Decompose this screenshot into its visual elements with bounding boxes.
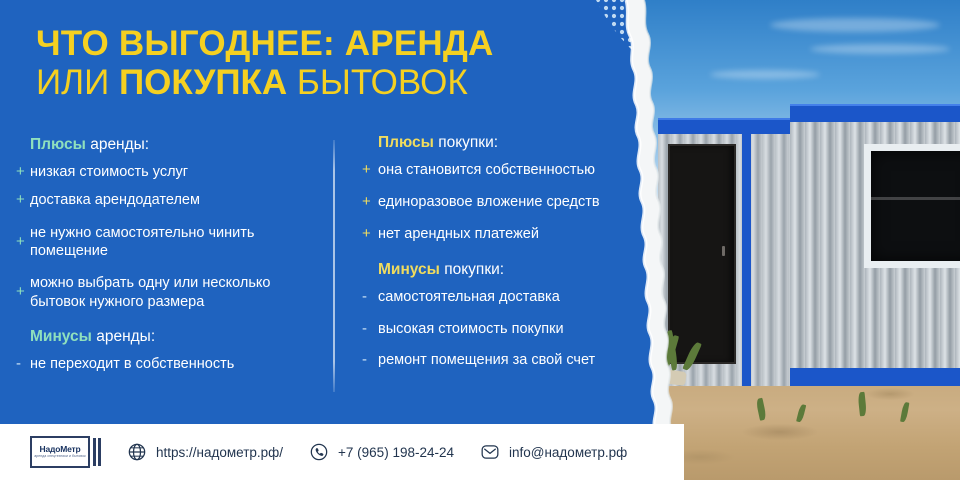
minus-marker-icon: - <box>362 351 378 370</box>
minus-marker-icon: - <box>16 355 30 374</box>
rent-cons-heading: Минусы аренды: <box>16 328 326 346</box>
weed <box>682 341 702 372</box>
plus-marker-icon: + <box>362 161 378 180</box>
list-item: + низкая стоимость услуг <box>16 163 326 182</box>
purchase-pros-heading-rest: покупки: <box>434 134 498 151</box>
cloud-wisp <box>770 18 940 32</box>
list-item-text: ремонт помещения за свой счет <box>378 351 692 369</box>
brand-logo[interactable]: НадоМетр аренда спецтехники и бытовок <box>30 436 101 468</box>
plus-marker-icon: + <box>16 191 30 210</box>
email-text: info@надометр.рф <box>509 445 627 460</box>
cabin-window <box>864 144 960 268</box>
list-item-text: не переходит в собственность <box>30 355 326 373</box>
logo-box: НадоМетр аренда спецтехники и бытовок <box>30 436 90 468</box>
website-contact[interactable]: https://надометр.рф/ <box>127 442 283 462</box>
plus-marker-icon: + <box>16 283 30 302</box>
title-word-ili: ИЛИ <box>36 63 119 102</box>
rent-cons-heading-strong: Минусы <box>30 328 92 345</box>
phone-text: +7 (965) 198-24-24 <box>338 445 454 460</box>
purchase-pros-heading-strong: Плюсы <box>378 134 434 151</box>
cabin-door <box>668 144 736 364</box>
plus-marker-icon: + <box>362 225 378 244</box>
window-glass-reflection <box>871 197 960 200</box>
rent-column: Плюсы аренды: + низкая стоимость услуг +… <box>16 136 326 383</box>
plus-marker-icon: + <box>16 233 30 252</box>
list-item: - не переходит в собственность <box>16 355 326 374</box>
purchase-cons-heading: Минусы покупки: <box>362 261 692 279</box>
cabin-corner-trim <box>742 134 751 386</box>
list-item-text: нет арендных платежей <box>378 225 692 243</box>
cabin-base-trim <box>790 368 960 386</box>
logo-bars <box>93 438 101 466</box>
list-item-text: не нужно самостоятельно чинить помещение <box>30 224 326 261</box>
list-item: + доставка арендодателем <box>16 191 326 210</box>
list-item-text: самостоятельная доставка <box>378 288 692 306</box>
list-item-text: высокая стоимость покупки <box>378 320 692 338</box>
website-text: https://надометр.рф/ <box>156 445 283 460</box>
purchase-column: Плюсы покупки: + она становится собствен… <box>362 134 692 383</box>
title-word-pokupka: ПОКУПКА <box>119 63 287 102</box>
purchase-cons-heading-rest: покупки: <box>440 261 504 278</box>
email-contact[interactable]: info@надометр.рф <box>480 442 627 462</box>
cloud-wisp <box>710 70 820 79</box>
list-item: + она становится собственностью <box>362 161 692 180</box>
page-title: ЧТО ВЫГОДНЕЕ: АРЕНДА ИЛИ ПОКУПКА БЫТОВОК <box>36 26 636 100</box>
footer-content: НадоМетр аренда спецтехники и бытовок ht… <box>30 424 653 480</box>
door-handle <box>722 246 725 256</box>
rent-pros-heading-rest: аренды: <box>86 136 149 153</box>
title-line-1: ЧТО ВЫГОДНЕЕ: АРЕНДА <box>36 26 636 61</box>
purchase-cons-heading-strong: Минусы <box>378 261 440 278</box>
envelope-icon <box>480 442 500 462</box>
list-item: + единоразовое вложение средств <box>362 193 692 212</box>
list-item: + можно выбрать одну или несколько бытов… <box>16 274 326 311</box>
list-item: + не нужно самостоятельно чинить помещен… <box>16 224 326 261</box>
list-item: - самостоятельная доставка <box>362 288 692 307</box>
rent-pros-heading-strong: Плюсы <box>30 136 86 153</box>
infographic-canvas: ЧТО ВЫГОДНЕЕ: АРЕНДА ИЛИ ПОКУПКА БЫТОВОК… <box>0 0 960 480</box>
list-item: - ремонт помещения за свой счет <box>362 351 692 370</box>
cabin-roof <box>790 104 960 124</box>
logo-tagline: аренда спецтехники и бытовок <box>34 455 85 458</box>
list-item: - высокая стоимость покупки <box>362 320 692 339</box>
plus-marker-icon: + <box>362 193 378 212</box>
blue-content-panel: ЧТО ВЫГОДНЕЕ: АРЕНДА ИЛИ ПОКУПКА БЫТОВОК… <box>0 0 700 480</box>
list-item-text: можно выбрать одну или несколько бытовок… <box>30 274 326 311</box>
plus-marker-icon: + <box>16 163 30 182</box>
rent-pros-heading: Плюсы аренды: <box>16 136 326 154</box>
globe-icon <box>127 442 147 462</box>
phone-contact[interactable]: +7 (965) 198-24-24 <box>309 442 454 462</box>
column-divider <box>333 140 335 392</box>
rent-cons-heading-rest: аренды: <box>92 328 155 345</box>
footer-bar: НадоМетр аренда спецтехники и бытовок ht… <box>0 424 684 480</box>
logo-name: НадоМетр <box>40 445 81 454</box>
list-item: + нет арендных платежей <box>362 225 692 244</box>
title-line-2: ИЛИ ПОКУПКА БЫТОВОК <box>36 65 636 100</box>
purchase-pros-heading: Плюсы покупки: <box>362 134 692 152</box>
list-item-text: низкая стоимость услуг <box>30 163 326 181</box>
phone-icon <box>309 442 329 462</box>
title-word-bytovok: БЫТОВОК <box>287 63 468 102</box>
list-item-text: доставка арендодателем <box>30 191 326 209</box>
cloud-wisp <box>810 44 950 54</box>
cabin-with-window <box>790 104 960 386</box>
minus-marker-icon: - <box>362 320 378 339</box>
list-item-text: единоразовое вложение средств <box>378 193 692 211</box>
minus-marker-icon: - <box>362 288 378 307</box>
